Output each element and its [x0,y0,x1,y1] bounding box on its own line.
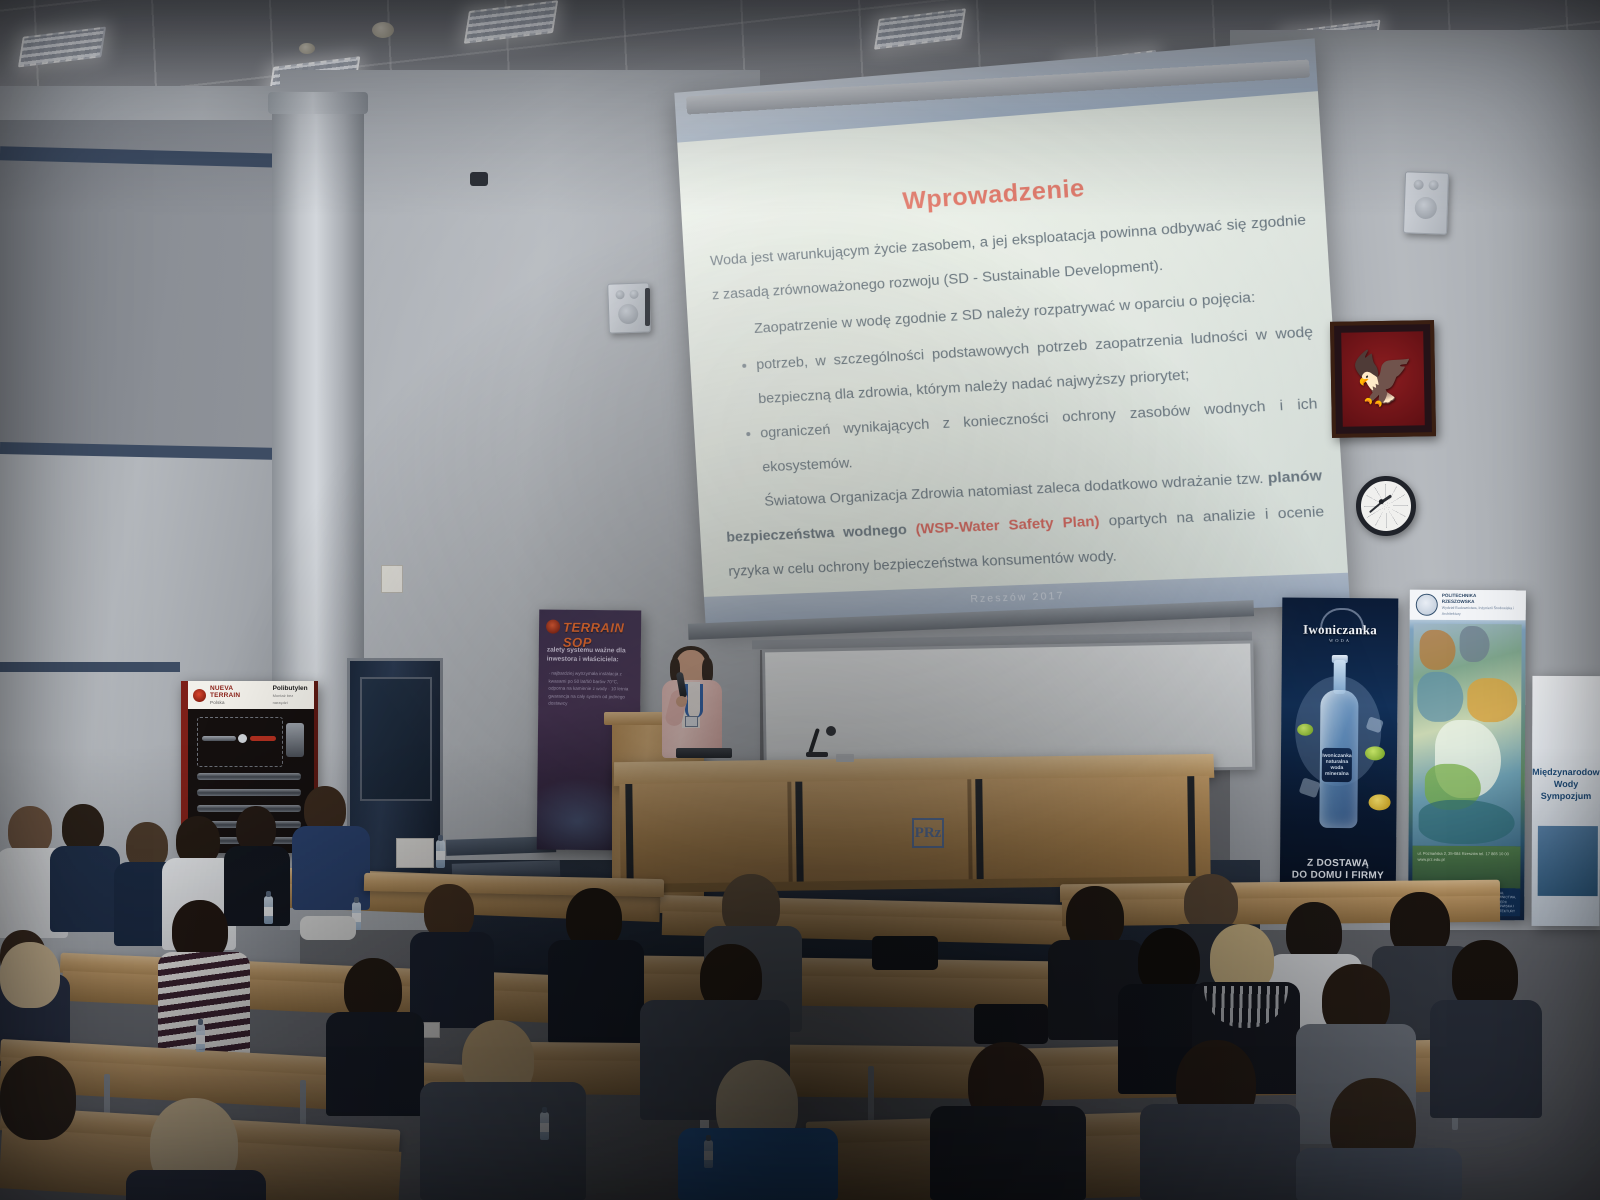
laptop[interactable] [676,748,732,758]
far-line1: Międzynarodowe [1532,767,1600,777]
univ-line2: RZESZOWSKA [1442,599,1475,604]
bottle-label [436,851,445,860]
pipe-diagram [197,717,283,767]
water-bottle-icon [436,840,445,868]
audience-head [62,804,104,852]
university-seal-icon [1416,594,1438,616]
speaker-driver [1414,197,1437,220]
banner-university: POLITECHNIKA RZESZOWSKA Wydział Budownic… [1408,590,1526,921]
handbag [974,1004,1048,1044]
paper-sheet [396,838,434,868]
water-bottle-icon [264,896,273,924]
table-leg [1187,776,1195,880]
folded-garment [300,916,356,940]
table-leg [795,782,803,886]
audience-body [678,1128,838,1200]
projection-screen: Rzeszowski Dzień Wody Wprowadzenie Woda … [674,38,1350,627]
lime-slice [1297,724,1313,736]
speaker-driver [629,290,638,299]
university-org-name: POLITECHNIKA RZESZOWSKA Wydział Budownic… [1442,593,1520,617]
control-box[interactable] [836,754,854,762]
iwoniczanka-cta: Z DOSTAWĄ DO DOMU I FIRMY [1280,857,1396,882]
table-logo: PRz [912,818,944,848]
lemon-slice [1368,794,1390,810]
column-cap [268,92,368,114]
bottle-neck [1334,660,1346,694]
iwoniczanka-brand: IwoniczankaWODA [1282,621,1398,643]
lecture-hall-photo: Rzeszowski Dzień Wody Wprowadzenie Woda … [0,0,1600,1200]
university-banner-photo [1413,624,1522,847]
pipe-sample [197,773,301,780]
university-contact-text: ul. Poznańska 2, 35-084 Rzeszów tel. 17 … [1417,851,1520,863]
wall-notice [381,565,403,593]
product-name: PolibutylenMontaż bez narzędzi [273,685,309,706]
univ-line1: POLITECHNIKA [1442,593,1476,598]
lime-slice [1365,746,1385,760]
table-leg [625,784,633,888]
far-line2: Wody [1554,779,1578,789]
sprinkler-icon [372,22,394,38]
presenter-hand [676,696,687,707]
slide-wsp-term: (WSP-Water Safety Plan) [915,513,1100,537]
slide-text-block: Woda jest warunkującym życie zasobem, a … [709,202,1328,591]
slide-body: Wprowadzenie Woda jest warunkującym życi… [677,91,1348,597]
iwoniczanka-cta-line2: DO DOMU I FIRMY [1292,870,1384,882]
far-banner-text: Międzynarodowe Wody Sympozjum [1532,766,1600,802]
univ-line3: Wydział Budownictwa, Inżynierii Środowis… [1442,605,1520,617]
product-board-header: NUEVA TERRAINPolska PolibutylenMontaż be… [188,681,314,709]
bottle-label: Iwoniczanka naturalna woda mineralna [1322,748,1352,782]
presenter [652,650,732,758]
microphone-base [806,752,828,757]
product-brand-sub: Polska [210,699,265,706]
photo-element-water [1417,672,1463,722]
audience-body [1430,1000,1542,1118]
camera-mount [470,172,488,186]
audience-body [50,846,120,932]
audience-body [326,1012,424,1116]
diagram-pipe [202,736,236,741]
speaker-bracket [645,288,650,326]
loudspeaker-icon [1403,171,1449,234]
bottle-label [264,907,273,916]
presenter-badge [685,716,698,727]
terrain-logo-icon [546,620,560,634]
audience-body [1140,1104,1300,1200]
speaker-driver [615,290,624,299]
photo-element-tank [1419,630,1455,670]
terrain-bullets: · najbardziej wytrzymała instalacja z kw… [548,670,633,708]
speaker-driver [618,304,639,325]
water-bottle-icon [704,1140,713,1168]
diagram-pipe [250,736,276,741]
university-banner-header: POLITECHNIKA RZESZOWSKA Wydział Budownic… [1410,590,1526,621]
audience-body [126,1170,266,1200]
sprinkler-icon [299,43,315,54]
audience-body [930,1106,1086,1200]
photo-element-equipment [1459,626,1489,662]
audience-body [224,846,290,926]
banner-far-right: Międzynarodowe Wody Sympozjum [1532,676,1600,926]
audience-body [420,1082,586,1200]
pipe-sample [197,789,301,796]
wall-left-recess [0,120,300,450]
far-line3: Sympozjum [1541,791,1592,801]
presenter-lanyard [685,684,703,718]
emblem-field: 🦅 [1341,331,1425,426]
iwoniczanka-cta-line1: Z DOSTAWĄ [1307,858,1369,870]
brand-logo-icon [193,689,206,702]
door-window [360,677,432,801]
bottle-label [704,1151,713,1160]
terrain-subtitle: zalety systemu ważne dla inwestora i wła… [547,646,633,665]
audience-head [0,942,60,1008]
water-bottle-icon [196,1024,205,1052]
photo-element-basin [1419,800,1515,845]
bottle-label [700,1119,709,1128]
water-bottle-icon: Iwoniczanka naturalna woda mineralna [1317,660,1360,828]
far-banner-photo [1538,826,1598,896]
audience-body [548,940,644,1044]
clock-ticks [1363,483,1409,529]
audience-head [0,1056,76,1140]
audience-body [410,932,494,1028]
handbag [872,936,938,970]
table-panel-divider [787,782,792,886]
microphone-capsule [826,726,836,736]
water-bottle-icon [540,1112,549,1140]
diagram-valve-icon [238,734,247,743]
bottle-label [540,1123,549,1132]
product-brand: NUEVA TERRAINPolska [210,685,265,706]
clock-center-pin [1378,499,1383,504]
speaker-driver [1413,180,1423,190]
bottle-label [196,1035,205,1044]
photo-element-plant [1467,678,1517,722]
board-side-fitting [286,723,304,757]
table-panel-divider [967,779,972,883]
table-leg [975,779,983,883]
wall-trim-blue [0,662,180,672]
banner-iwoniczanka: IwoniczankaWODA Iwoniczanka naturalna wo… [1280,597,1399,906]
eagle-emblem-icon: 🦅 [1350,352,1416,405]
iwoniczanka-brand-sub: WODA [1282,637,1398,643]
audience-body [1296,1148,1462,1200]
product-name-sub: Montaż bez narzędzi [273,692,309,706]
polish-eagle-emblem: 🦅 [1330,320,1436,438]
speaker-driver [1428,180,1438,190]
